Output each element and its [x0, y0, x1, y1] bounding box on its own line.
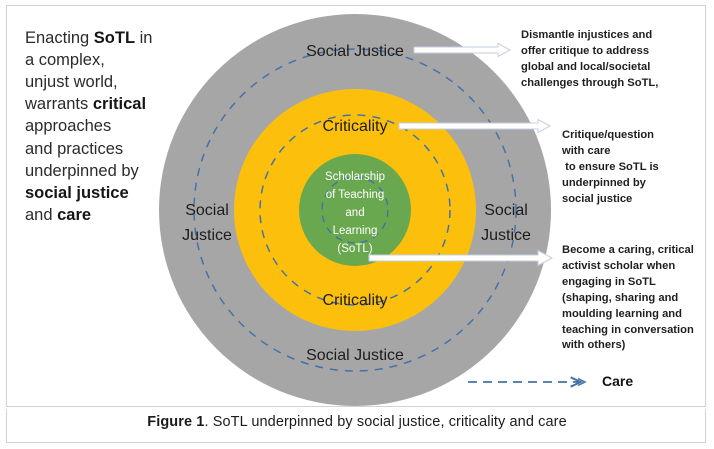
annotation-care: Become a caring, critical activist schol… [562, 243, 707, 354]
anno-2-line-2: with care [562, 145, 611, 157]
label-social-justice-left-line2: Justice [182, 227, 232, 244]
label-social-justice-right-line2: Justice [481, 227, 531, 244]
anno-1-line-2: offer critique to address [521, 45, 649, 57]
anno-2-line-5: social justice [562, 193, 632, 205]
annotation-criticality: Critique/question with care to ensure So… [562, 128, 702, 208]
core-label-line5: (SoTL) [337, 243, 372, 255]
anno-3-line-7: with others) [562, 339, 625, 351]
annotation-social-justice: Dismantle injustices and offer critique … [521, 28, 691, 92]
label-criticality-top: Criticality [323, 118, 388, 135]
core-label-line2: of Teaching [326, 189, 385, 201]
anno-2-line-3: to ensure SoTL is [562, 161, 659, 173]
caption-prefix: Figure 1 [147, 414, 204, 430]
anno-3-line-3: engaging in SoTL [562, 276, 656, 288]
legend-label: Care [602, 373, 633, 389]
anno-2-line-4: underpinned by [562, 177, 646, 189]
label-criticality-bottom: Criticality [323, 292, 388, 309]
anno-2-line-1: Critique/question [562, 129, 654, 141]
anno-1-line-1: Dismantle injustices and [521, 29, 652, 41]
label-social-justice-bottom: Social Justice [306, 347, 404, 364]
core-label-line1: Scholarship [325, 171, 385, 183]
figure-caption: Figure 1. SoTL underpinned by social jus… [0, 414, 714, 430]
core-label-line4: Learning [333, 225, 378, 237]
label-social-justice-left-line1: Social [185, 202, 229, 219]
legend-dashed-arrow-icon [466, 372, 596, 392]
label-social-justice-top: Social Justice [306, 43, 404, 60]
legend: Care [466, 372, 666, 396]
anno-1-line-4: challenges through SoTL, [521, 77, 658, 89]
figure-page: Enacting SoTL in a complex, unjust world… [0, 0, 714, 449]
anno-3-line-2: activist scholar when [562, 260, 675, 272]
anno-1-line-3: global and local/societal [521, 61, 650, 73]
anno-3-line-6: teaching in conversation [562, 324, 694, 336]
anno-3-line-5: moulding learning and [562, 308, 682, 320]
anno-3-line-4: (shaping, sharing and [562, 292, 678, 304]
caption-text: . SoTL underpinned by social justice, cr… [204, 414, 566, 430]
anno-3-line-1: Become a caring, critical [562, 244, 694, 256]
core-label-line3: and [345, 207, 364, 219]
label-social-justice-right-line1: Social [484, 202, 528, 219]
